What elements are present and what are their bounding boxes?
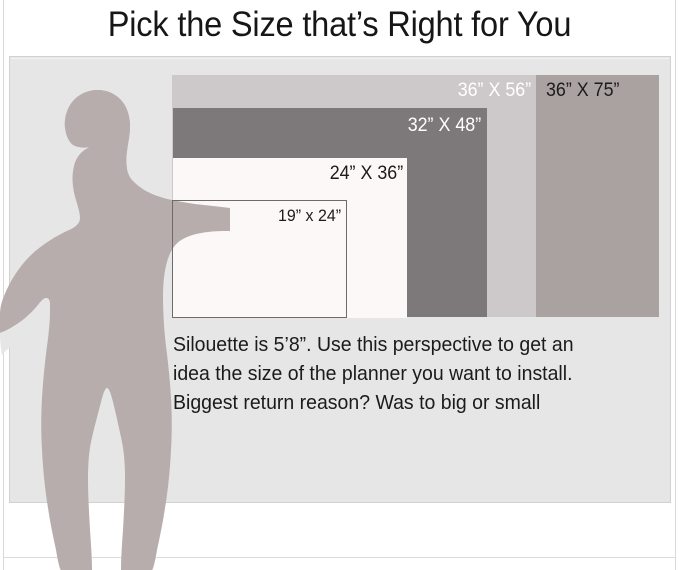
size-label-36x75: 36” X 75” <box>546 80 619 102</box>
caption-text: Silouette is 5’8”. Use this perspective … <box>173 330 629 417</box>
frame-left-rule <box>3 0 4 570</box>
caption-line-2: idea the size of the planner you want to… <box>173 359 629 388</box>
size-rect-36x75 <box>536 75 659 317</box>
caption-line-1: Silouette is 5’8”. Use this perspective … <box>173 330 629 359</box>
wall-highlight <box>11 58 669 59</box>
size-label-19x24: 19” x 24” <box>278 206 341 226</box>
poster-graphic: Pick the Size that’s Right for You 36” X… <box>0 0 679 570</box>
size-label-32x48: 32” X 48” <box>408 115 481 137</box>
page-title: Pick the Size that’s Right for You <box>24 0 655 50</box>
size-label-24x36: 24” X 36” <box>330 163 403 185</box>
caption-line-3: Biggest return reason? Was to big or sma… <box>173 388 629 417</box>
frame-right-rule <box>675 0 676 570</box>
frame-bottom-rule <box>4 557 675 558</box>
size-label-36x56: 36” X 56” <box>458 80 531 102</box>
